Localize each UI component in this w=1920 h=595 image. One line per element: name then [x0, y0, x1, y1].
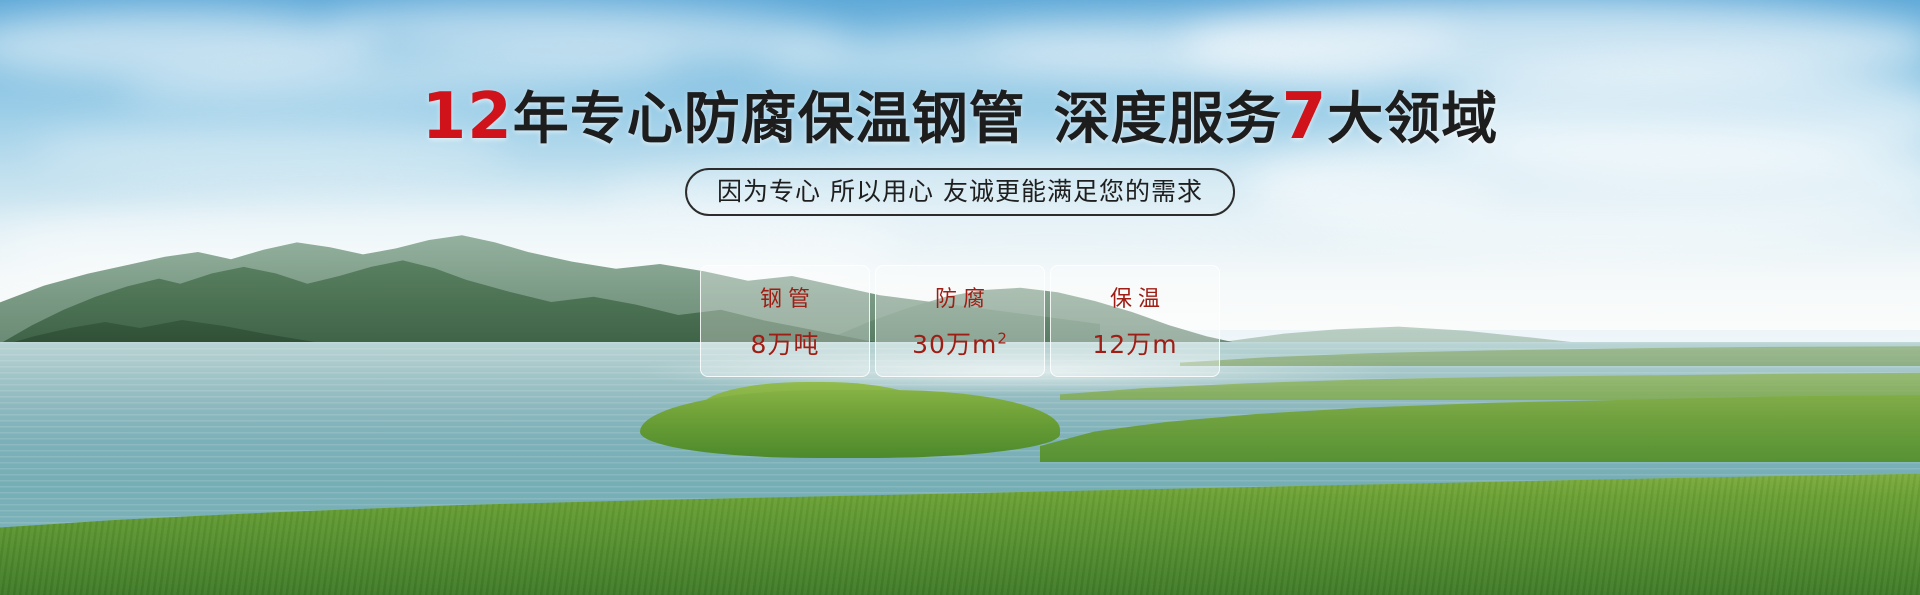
headline-text-secondary: 深度服务 — [1054, 87, 1282, 152]
stat-card-label: 钢管 — [754, 281, 816, 313]
hero-banner: 12年专心防腐保温钢管深度服务7大领域 因为专心 所以用心 友诚更能满足您的需求… — [0, 0, 1920, 595]
headline-text-tertiary: 大领域 — [1327, 87, 1498, 152]
stat-card-value: 30万m2 — [912, 325, 1008, 361]
stat-card-label: 保温 — [1104, 281, 1166, 313]
banner-subtitle-pill: 因为专心 所以用心 友诚更能满足您的需求 — [685, 168, 1235, 216]
banner-content: 12年专心防腐保温钢管深度服务7大领域 因为专心 所以用心 友诚更能满足您的需求… — [0, 0, 1920, 595]
stat-card-value: 8万吨 — [751, 325, 820, 361]
headline-number-years: 12 — [422, 80, 513, 154]
stat-card-insulation[interactable]: 保温 12万m — [1050, 265, 1220, 377]
stat-card-value-text: 30万m — [912, 330, 997, 359]
headline-text-primary: 年专心防腐保温钢管 — [513, 87, 1026, 152]
stat-card-value: 12万m — [1092, 325, 1177, 361]
stat-card-anticorrosion[interactable]: 防腐 30万m2 — [875, 265, 1045, 377]
stat-cards: 钢管 8万吨 防腐 30万m2 保温 12万m — [700, 265, 1220, 377]
stat-card-value-text: 12万m — [1092, 330, 1177, 359]
stat-card-value-text: 8万吨 — [751, 330, 820, 359]
stat-card-label: 防腐 — [929, 281, 991, 313]
stat-card-steel-pipe[interactable]: 钢管 8万吨 — [700, 265, 870, 377]
banner-headline: 12年专心防腐保温钢管深度服务7大领域 — [0, 85, 1920, 152]
headline-number-fields: 7 — [1282, 80, 1328, 154]
stat-card-value-superscript: 2 — [997, 330, 1008, 348]
